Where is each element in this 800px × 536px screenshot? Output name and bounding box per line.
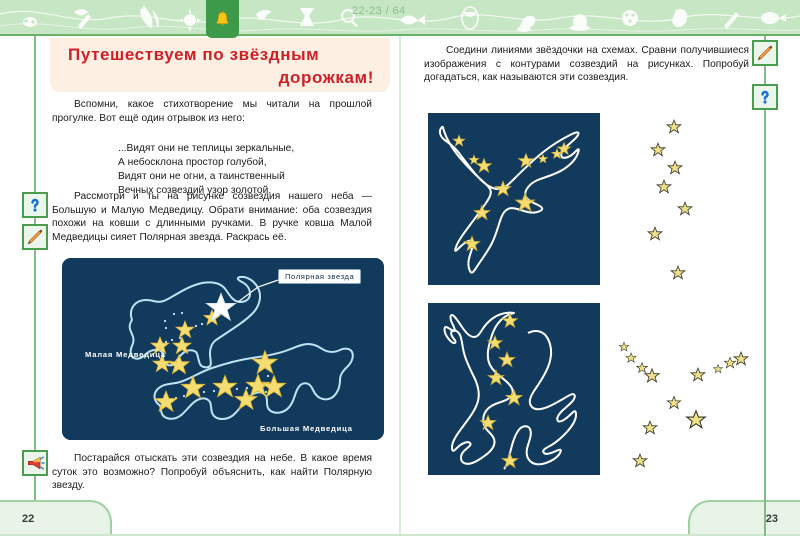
help-question-button-right[interactable] (752, 84, 778, 110)
swan-constellation-panel (428, 113, 600, 285)
poem-line-1: ...Видят они не теплицы зеркальные, (118, 142, 382, 156)
megaphone-icon (25, 453, 45, 473)
paragraph-3-text: Постарайся отыскать эти созвездия на неб… (52, 452, 372, 493)
ursa-minor-label: Малая Медведица (85, 350, 166, 359)
page-indicator: 22-23 / 64 (352, 5, 406, 17)
poem-line-2: А небосклона простор голубой, (118, 156, 382, 170)
ursa-figure-drawing (62, 258, 384, 440)
poem-line-3: Видят они не огни, а таинственный (118, 170, 382, 184)
bell-icon (213, 10, 232, 29)
lizard-outline-drawing (428, 303, 600, 475)
book-spine (399, 36, 401, 536)
ursa-major-label: Большая Медведица (260, 424, 353, 433)
left-rail-mid (34, 250, 36, 440)
pencil-button-left[interactable] (22, 224, 48, 250)
left-rail-lower (34, 476, 36, 500)
right-rail-lower (764, 110, 766, 536)
right-intro-paragraph: Соедини линиями звёздочки на схемах. Сра… (424, 44, 749, 85)
megaphone-button[interactable] (22, 450, 48, 476)
paragraph-2-text: Рассмотри и ты на рисунке созвездия наше… (52, 190, 372, 244)
intro-text: Вспомни, какое стихотворение мы читали н… (52, 98, 372, 125)
page-title-line-1: Путешествуем по звёздным (68, 43, 374, 66)
star-field-puzzle-a[interactable] (612, 110, 772, 290)
star-field-puzzle-b[interactable] (598, 325, 778, 475)
left-paragraph-3: Постарайся отыскать эти созвездия на неб… (52, 452, 372, 493)
help-question-icon (755, 87, 775, 107)
left-paragraph-2: Рассмотри и ты на рисунке созвездия наше… (52, 190, 372, 244)
swan-outline-drawing (428, 113, 600, 285)
left-rail-upper (34, 36, 36, 198)
pencil-icon (755, 43, 775, 63)
book-spread: 22-23 / 64 Путешествуем по звёздным доро… (0, 0, 800, 536)
page-number-tab-left: 22 (0, 500, 112, 536)
pencil-icon (25, 227, 45, 247)
lesson-title-banner: Путешествуем по звёздным дорожкам! (50, 38, 390, 92)
star-field-a-drawing (612, 110, 772, 290)
page-number-tab-right: 23 (688, 500, 800, 536)
right-intro-text: Соедини линиями звёздочки на схемах. Сра… (424, 44, 749, 85)
help-question-icon (25, 195, 45, 215)
polaris-callout-label: Полярная звезда (278, 269, 361, 284)
bell-icon-tab[interactable] (206, 0, 239, 38)
help-question-button[interactable] (22, 192, 48, 218)
page-number-left: 22 (22, 513, 34, 525)
page-number-right: 23 (766, 513, 778, 525)
page-title-line-2: дорожкам! (68, 66, 374, 89)
lizard-constellation-panel (428, 303, 600, 475)
left-intro-paragraph: Вспомни, какое стихотворение мы читали н… (52, 98, 372, 125)
pencil-button-right[interactable] (752, 40, 778, 66)
ursa-constellations-figure: Полярная звезда Малая Медведица Большая … (62, 258, 384, 440)
star-field-b-drawing (598, 325, 778, 475)
